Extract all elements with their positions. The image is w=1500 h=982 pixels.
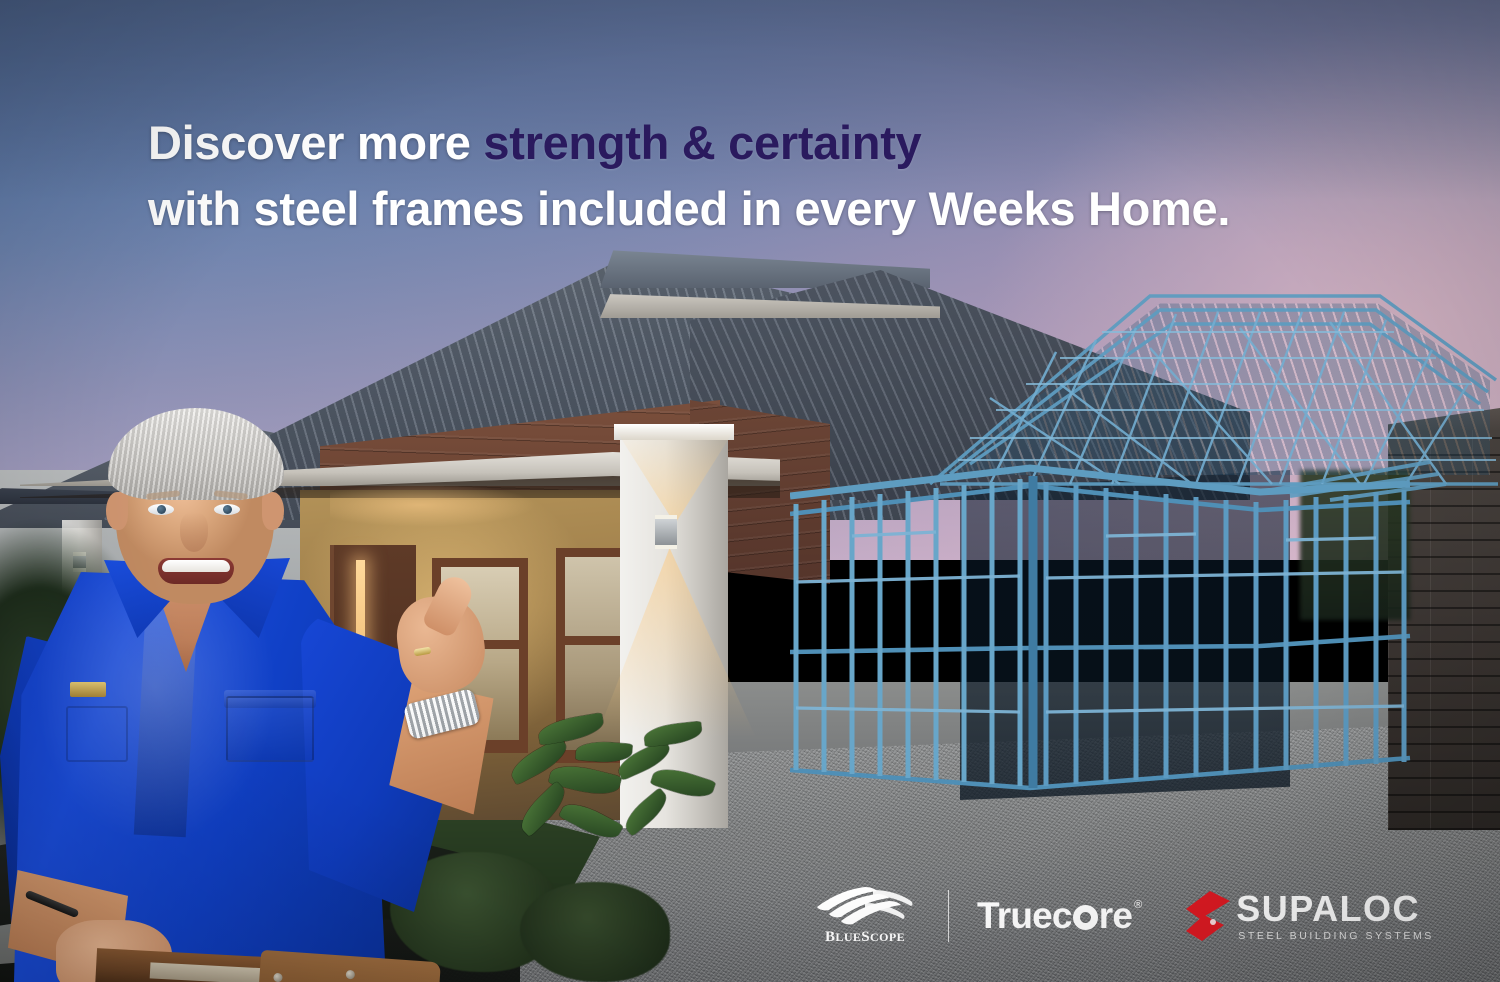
- supaloc-tagline: STEEL BUILDING SYSTEMS: [1238, 930, 1434, 942]
- truecore-circle-o-icon: [1073, 905, 1098, 930]
- headline: Discover more strength & certainty with …: [148, 110, 1348, 242]
- entry-column-cap: [614, 424, 734, 440]
- shirt-pocket: [226, 696, 314, 762]
- person-ear-left: [106, 492, 128, 530]
- headline-line-1-plain: Discover more: [148, 116, 483, 169]
- person-eye-left: [148, 504, 174, 515]
- person-smile: [158, 558, 234, 584]
- steel-wall-frames: [790, 440, 1500, 810]
- shirt-pocket-left: [66, 706, 128, 762]
- presenter-person: [0, 400, 470, 982]
- bluescope-steel-waves-mark: [813, 886, 917, 926]
- truecore-logo[interactable]: Truecre ®: [977, 895, 1142, 937]
- headline-line-1: Discover more strength & certainty: [148, 110, 1348, 176]
- supaloc-wordmark: SUPALOC: [1236, 891, 1434, 927]
- entry-wall-light-icon: [655, 515, 677, 549]
- supaloc-logo[interactable]: SUPALOC STEEL BUILDING SYSTEMS: [1184, 889, 1434, 943]
- truecore-registered-mark: ®: [1134, 899, 1142, 911]
- banner-stage: Discover more strength & certainty with …: [0, 0, 1500, 982]
- person-ear-right: [262, 492, 284, 530]
- bluescope-logo[interactable]: BLUESCOPE: [806, 886, 924, 946]
- bluescope-wordmark: BLUESCOPE: [825, 929, 905, 946]
- person-nose: [180, 512, 208, 552]
- truecore-wordmark: Truecre: [977, 895, 1132, 937]
- headline-accent: strength & certainty: [483, 116, 921, 169]
- person-eye-right: [214, 504, 240, 515]
- partner-logo-bar: BLUESCOPE Truecre ® SUPALOC STEEL BUILDI…: [806, 876, 1434, 956]
- feature-plant-2: [608, 710, 728, 870]
- shirt-brand-badge: [70, 682, 106, 697]
- supaloc-red-bolt-mark: [1184, 889, 1232, 943]
- person-hair: [108, 408, 284, 500]
- headline-line-2: with steel frames included in every Week…: [148, 176, 1348, 242]
- logo-divider: [948, 890, 949, 942]
